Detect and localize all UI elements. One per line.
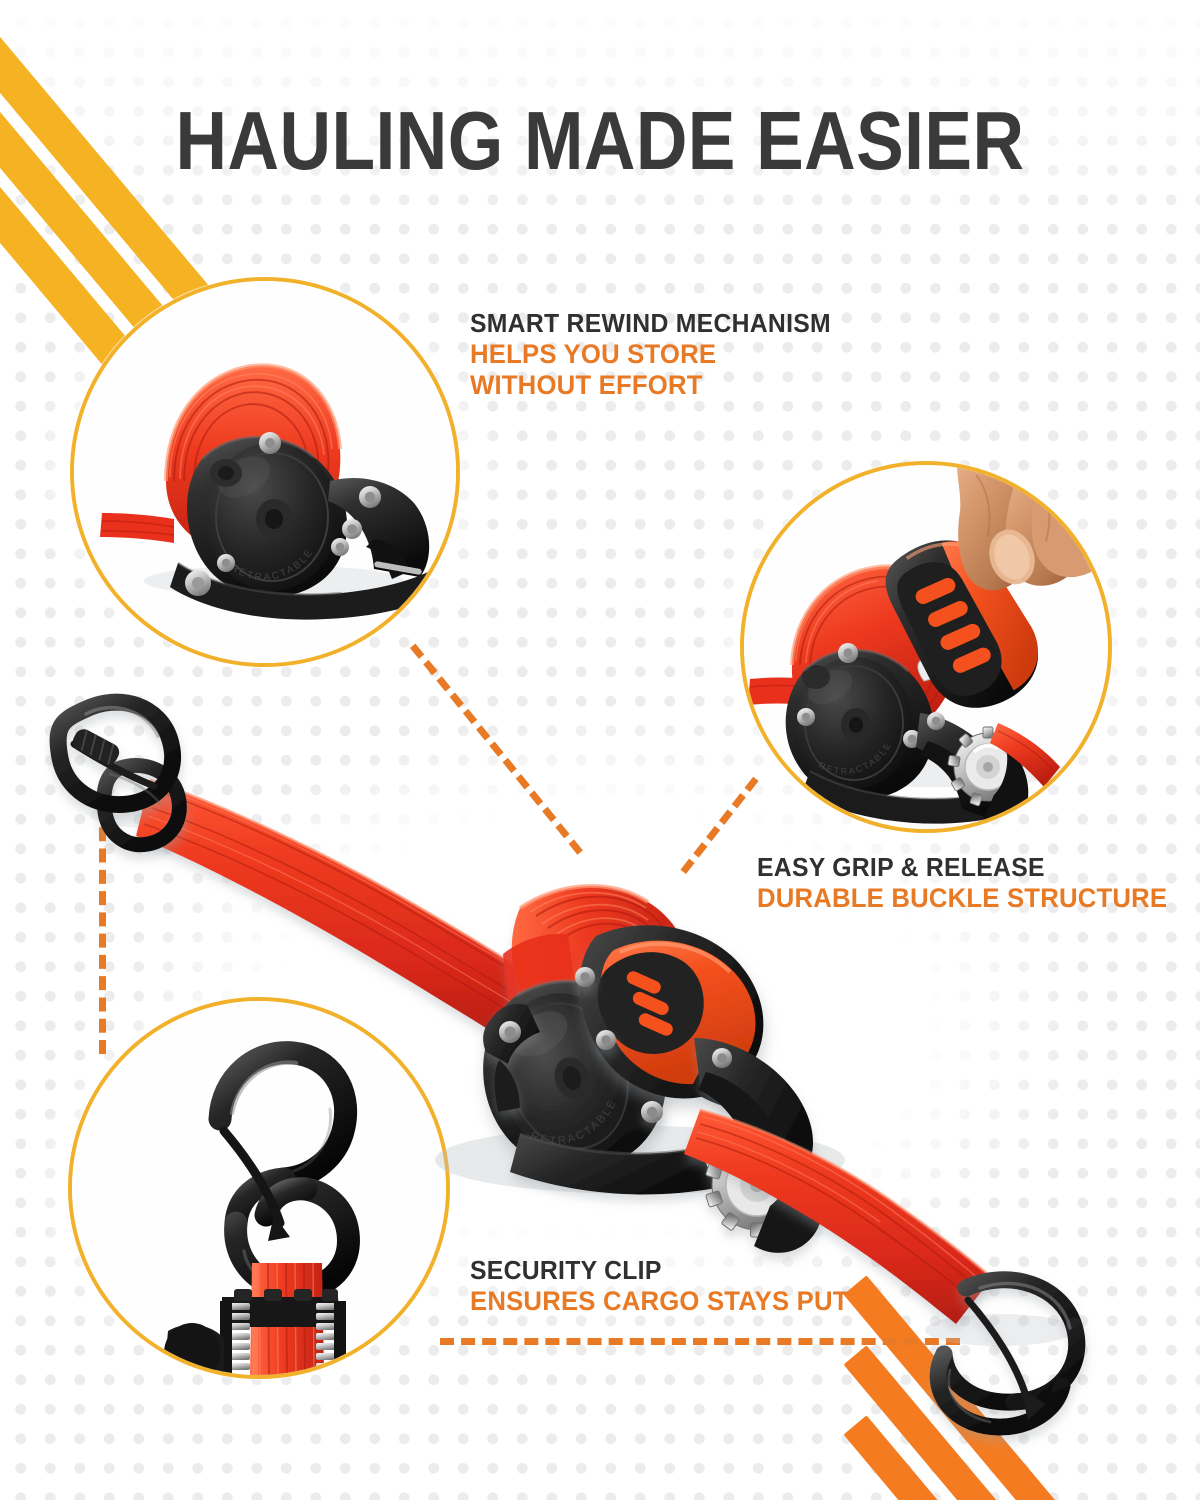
callout-heading-grip: EASY GRIP & RELEASE — [757, 853, 1167, 883]
callout-heading-rewind: SMART REWIND MECHANISM — [470, 309, 831, 339]
callout-text-grip: EASY GRIP & RELEASE DURABLE BUCKLE STRUC… — [757, 853, 1180, 914]
callout-subheading-rewind-line2: WITHOUT EFFORT — [470, 370, 831, 401]
callout-image-rewind: RETRACTABLE — [70, 277, 460, 667]
callout-text-rewind: SMART REWIND MECHANISM HELPS YOU STORE W… — [470, 309, 842, 401]
infographic-canvas: HAULING MADE EASIER — [0, 0, 1200, 1500]
callout-heading-clip: SECURITY CLIP — [470, 1256, 849, 1286]
callout-text-clip: SECURITY CLIP ENSURES CARGO STAYS PUT — [470, 1256, 860, 1317]
callout-subheading-grip: DURABLE BUCKLE STRUCTURE — [757, 883, 1167, 914]
callout-subheading-clip: ENSURES CARGO STAYS PUT — [470, 1286, 849, 1317]
page-title: HAULING MADE EASIER — [84, 98, 1116, 184]
callout-subheading-rewind-line1: HELPS YOU STORE — [470, 339, 831, 370]
